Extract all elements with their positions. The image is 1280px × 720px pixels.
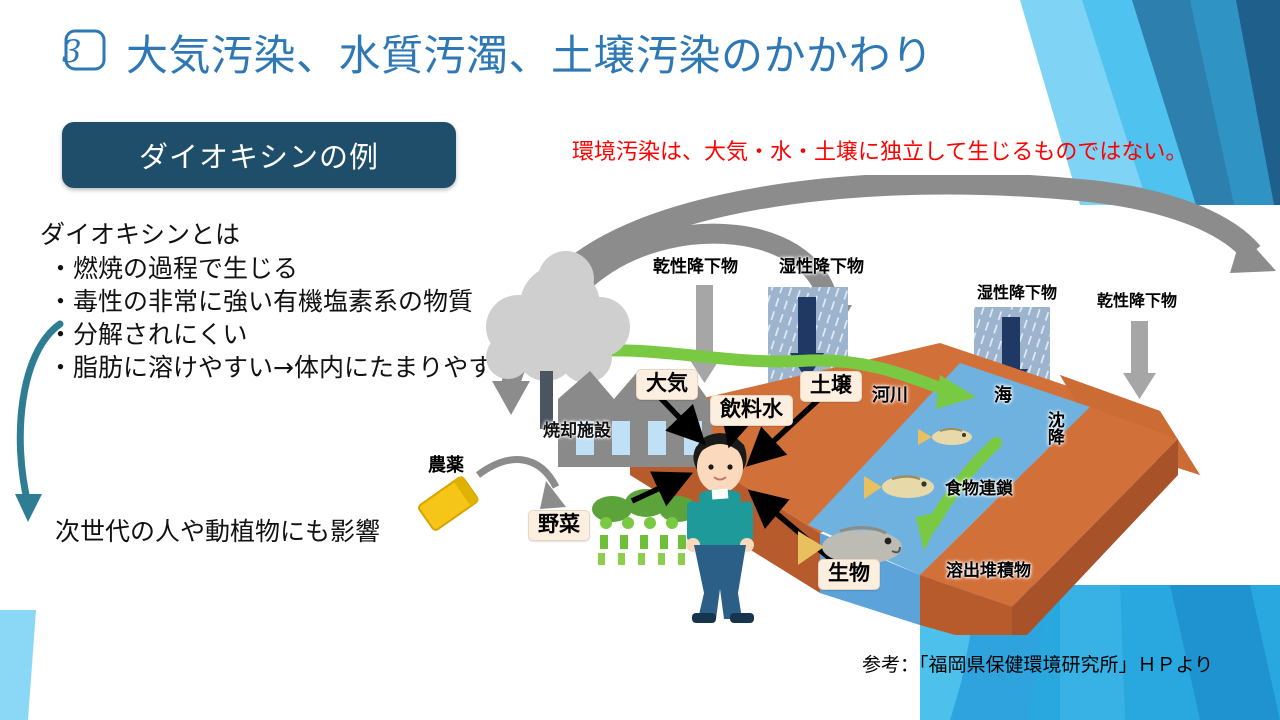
source-citation: 参考：「福岡県保健環境研究所」ＨＰより (862, 650, 1213, 677)
pollution-pathway-diagram: 乾性降下物 湿性降下物 湿性降下物 乾性降下物 大気 飲料水 土壌 河川 海 焼… (400, 175, 1280, 635)
numbered-book-icon: 3 (52, 24, 108, 80)
label-organisms: 生物 (818, 559, 880, 590)
label-pesticide: 農薬 (428, 457, 464, 475)
page-title: 大気汚染、水質汚濁、土壌汚染のかかわり (126, 22, 934, 83)
label-wet-deposition-right: 湿性降下物 (977, 285, 1057, 301)
label-atmosphere: 大気 (636, 369, 698, 400)
label-vegetables: 野菜 (528, 510, 590, 541)
person-figure (686, 433, 754, 623)
example-badge-label: ダイオキシンの例 (139, 134, 379, 176)
label-food-chain: 食物連鎖 (945, 481, 1013, 498)
dioxin-lead-text: ダイオキシンとは (40, 222, 240, 247)
label-settling: 沈降 (1044, 411, 1062, 445)
decoration-bottom-left (0, 610, 60, 720)
vegetable-field (592, 489, 697, 567)
label-wet-deposition-left: 湿性降下物 (779, 259, 864, 276)
next-generation-impact-text: 次世代の人や動植物にも影響 (55, 512, 380, 548)
label-drinking-water: 飲料水 (710, 395, 793, 426)
label-sea: 海 (994, 387, 1012, 405)
title-row: 3 大気汚染、水質汚濁、土壌汚染のかかわり (52, 14, 1052, 90)
label-dry-deposition-left: 乾性降下物 (653, 259, 738, 276)
label-dry-deposition-right: 乾性降下物 (1097, 293, 1177, 309)
label-eluted-sediment: 溶出堆積物 (946, 563, 1031, 580)
label-soil: 土壌 (800, 371, 862, 402)
label-incinerator: 焼却施設 (543, 423, 611, 440)
example-badge: ダイオキシンの例 (62, 122, 456, 188)
svg-text:3: 3 (62, 34, 82, 70)
red-warning-note: 環境汚染は、大気・水・土壌に独立して生じるものではない。 (572, 134, 1187, 166)
label-river: 河川 (872, 387, 908, 405)
slide-canvas: 3 大気汚染、水質汚濁、土壌汚染のかかわり ダイオキシンの例 環境汚染は、大気・… (0, 0, 1280, 720)
